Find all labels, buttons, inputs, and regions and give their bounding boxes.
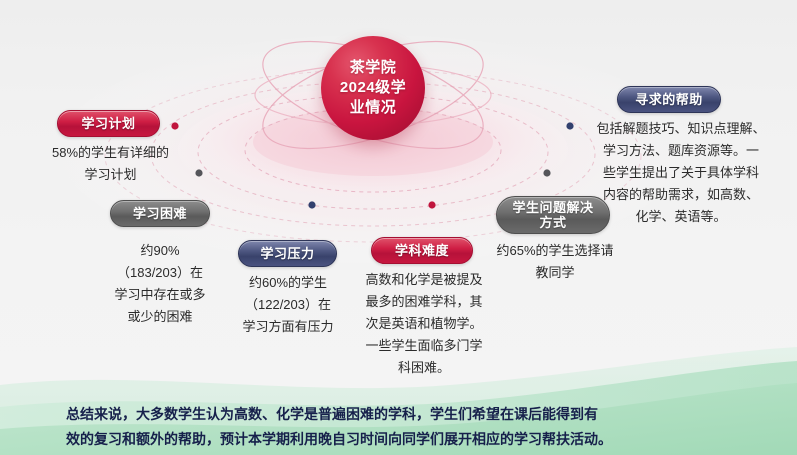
orbit-dot (543, 169, 550, 176)
center-sphere: 茶学院 2024级学 业情况 (321, 36, 425, 140)
slide-canvas: 茶学院 2024级学 业情况 学习计划 58%的学生有详细的 学习计划 学习困难… (0, 0, 797, 455)
body-study-difficulty: 约90% （183/203）在 学习中存在或多 或少的困难 (75, 240, 245, 328)
orbit-dot (428, 201, 435, 208)
center-sphere-line-1: 茶学院 (350, 58, 397, 78)
center-sphere-line-3: 业情况 (350, 98, 397, 118)
body-study-pressure: 约60%的学生 （122/203）在 学习方面有压力 (228, 272, 348, 338)
body-study-plan: 58%的学生有详细的 学习计划 (8, 142, 213, 186)
center-sphere-line-2: 2024级学 (340, 78, 406, 98)
orbit-dot (308, 201, 315, 208)
pill-study-pressure[interactable]: 学习压力 (238, 240, 337, 267)
orbit-dot (171, 122, 178, 129)
pill-study-difficulty[interactable]: 学习困难 (110, 200, 210, 227)
summary-text: 总结来说，大多数学生认为高数、化学是普遍困难的学科，学生们希望在课后能得到有 效… (66, 402, 756, 452)
body-problem-solving: 约65%的学生选择请 教同学 (475, 240, 635, 284)
pill-problem-solving[interactable]: 学生问题解决 方式 (496, 196, 610, 234)
pill-study-plan[interactable]: 学习计划 (57, 110, 160, 137)
pill-subject-difficulty[interactable]: 学科难度 (371, 237, 473, 264)
pill-help-sought[interactable]: 寻求的帮助 (617, 86, 721, 113)
body-subject-difficulty: 高数和化学是被提及 最多的困难学科，其 次是英语和植物学。 一些学生面临多门学 … (350, 269, 498, 379)
